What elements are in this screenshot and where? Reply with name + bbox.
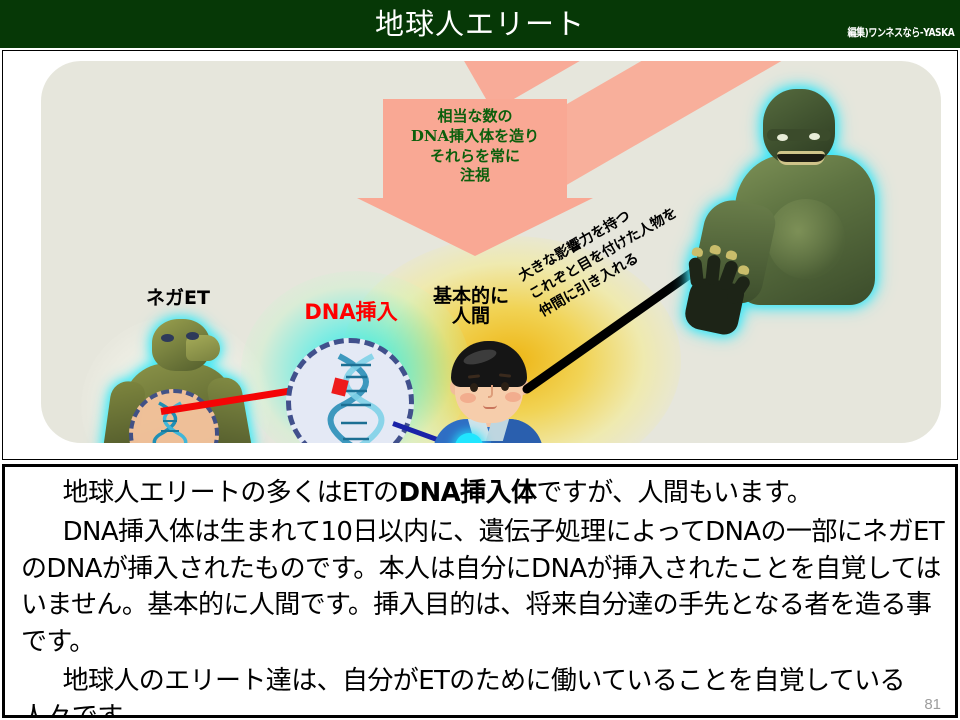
body-paragraph: DNA挿入体は生まれて10日以内に、遺伝子処理によってDNAの一部にネガETのD… — [21, 514, 945, 660]
body-text-frame: 地球人エリートの多くはETのDNA挿入体ですが、人間もいます。DNA挿入体は生ま… — [2, 464, 958, 718]
human-eye-right — [501, 382, 509, 391]
body-text-emphasis: DNA挿入体 — [399, 478, 537, 508]
body-text-run: 地球人エリートの多くはETの — [63, 478, 399, 508]
reptilian-alien-figure — [103, 319, 249, 443]
human-cheek-left — [460, 393, 476, 403]
monster-nail-4 — [737, 264, 750, 275]
label-nega-et: ネガET — [123, 289, 233, 309]
body-paragraph: 地球人のエリート達は、自分がETのために働いていることを自覚している人々です。 — [21, 663, 945, 718]
body-text: 地球人エリートの多くはETのDNA挿入体ですが、人間もいます。DNA挿入体は生ま… — [21, 475, 945, 718]
monster-finger-1 — [688, 257, 704, 288]
body-text-run: ですが、人間もいます。 — [536, 478, 812, 508]
page-title: 地球人エリート — [375, 10, 585, 39]
human-eye-left — [470, 383, 478, 392]
human-nose — [488, 385, 493, 398]
monster-eye-right — [809, 133, 820, 140]
header-credit: 編集)ワンネスなら-YASKA — [847, 24, 954, 40]
monster-nail-1 — [691, 246, 704, 257]
monster-torso-texture — [767, 199, 845, 279]
body-text-run: 地球人のエリート達は、自分がETのために働いていることを自覚している人々です。 — [21, 666, 905, 718]
reptilian-left-eye — [161, 334, 174, 342]
human-hair — [451, 341, 527, 387]
label-basically-human: 基本的に 人間 — [401, 287, 541, 327]
body-text-run: DNA挿入体は生まれて10日以内に、遺伝子処理によってDNAの一部にネガETのD… — [21, 517, 944, 656]
reptilian-right-eye — [186, 332, 199, 340]
slide-header: 地球人エリート 編集)ワンネスなら-YASKA — [0, 0, 960, 48]
monster-nail-2 — [709, 244, 722, 255]
diagram-panel: 相当な数の DNA挿入体を造り それらを常に 注視 — [41, 61, 941, 443]
diagram-frame: 相当な数の DNA挿入体を造り それらを常に 注視 — [2, 50, 958, 460]
page-number: 81 — [924, 696, 941, 713]
slide-root: 地球人エリート 編集)ワンネスなら-YASKA 相当な数の DNA挿入体を造り … — [0, 0, 960, 720]
dna-helix-icon — [327, 353, 387, 443]
body-paragraph: 地球人エリートの多くはETのDNA挿入体ですが、人間もいます。 — [21, 475, 945, 511]
human-mouth — [483, 405, 497, 409]
pink-arrow-label: 相当な数の DNA挿入体を造り それらを常に 注視 — [357, 107, 593, 186]
monster-nail-3 — [725, 250, 738, 261]
